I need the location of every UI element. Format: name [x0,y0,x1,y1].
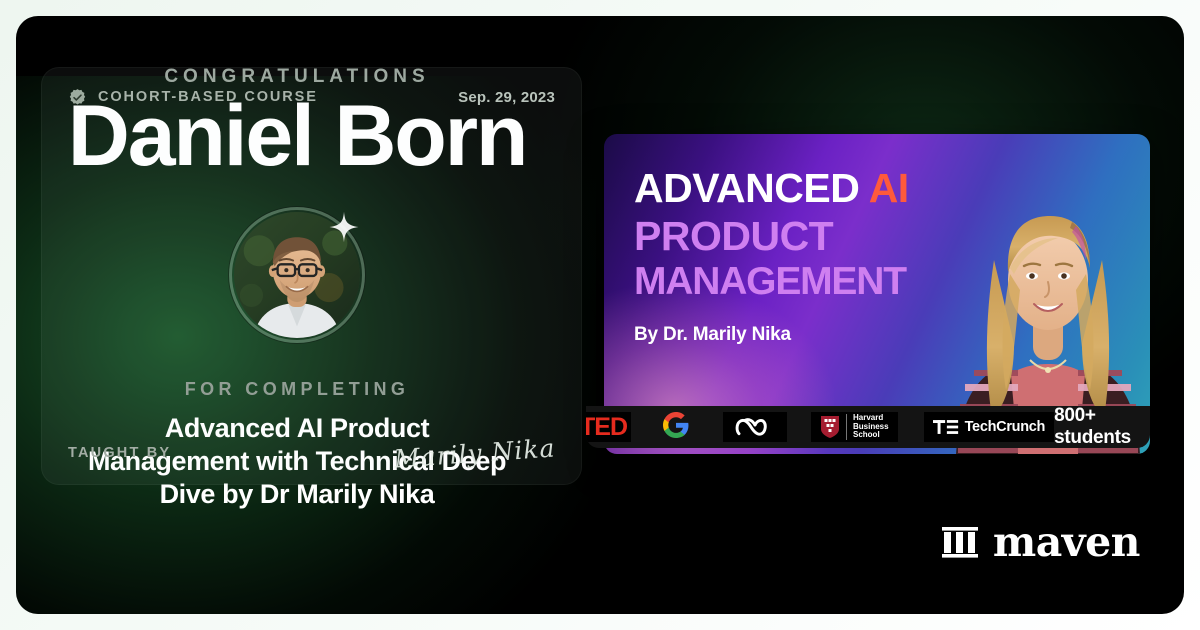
banner-title-advanced: ADVANCED [634,165,859,211]
course-card[interactable]: COHORT-BASED COURSE Sep. 29, 2023 TAUGHT… [41,67,582,485]
certificate-stage: CONGRATULATIONS Daniel Born [16,16,1184,614]
verified-badge-icon [68,88,87,107]
techcrunch-logo: TechCrunch [924,412,1055,442]
credibility-logo-strip: TED [586,406,1150,448]
student-count-badge: 800+ students [1054,406,1131,448]
banner-title-line-1: ADVANCED AI [634,168,964,209]
instructor-signature: Marily Nika [393,433,556,473]
maven-brand-logo[interactable]: maven [940,518,1140,566]
techcrunch-wordmark: TechCrunch [965,419,1046,435]
course-card-footer: TAUGHT BY Marily Nika [42,422,581,484]
cohort-based-course-label: COHORT-BASED COURSE [98,89,318,105]
banner-byline: By Dr. Marily Nika [634,324,964,346]
google-logo [663,412,689,443]
harvard-business-school-logo: Harvard Business School [811,412,898,442]
harvard-line-3: School [853,431,889,440]
taught-by-label: TAUGHT BY [68,445,171,461]
course-date: Sep. 29, 2023 [458,89,555,106]
meta-logo [723,412,787,442]
ted-logo: TED [586,412,631,442]
banner-title-line-2: PRODUCT [634,216,964,257]
banner-title-line-3: MANAGEMENT [634,263,964,302]
maven-wordmark: maven [993,518,1140,566]
maven-column-icon [940,522,980,562]
banner-text-block: ADVANCED AI PRODUCT MANAGEMENT By Dr. Ma… [634,168,964,346]
course-card-header: COHORT-BASED COURSE Sep. 29, 2023 [42,68,581,126]
banner-title-ai: AI [869,165,909,211]
